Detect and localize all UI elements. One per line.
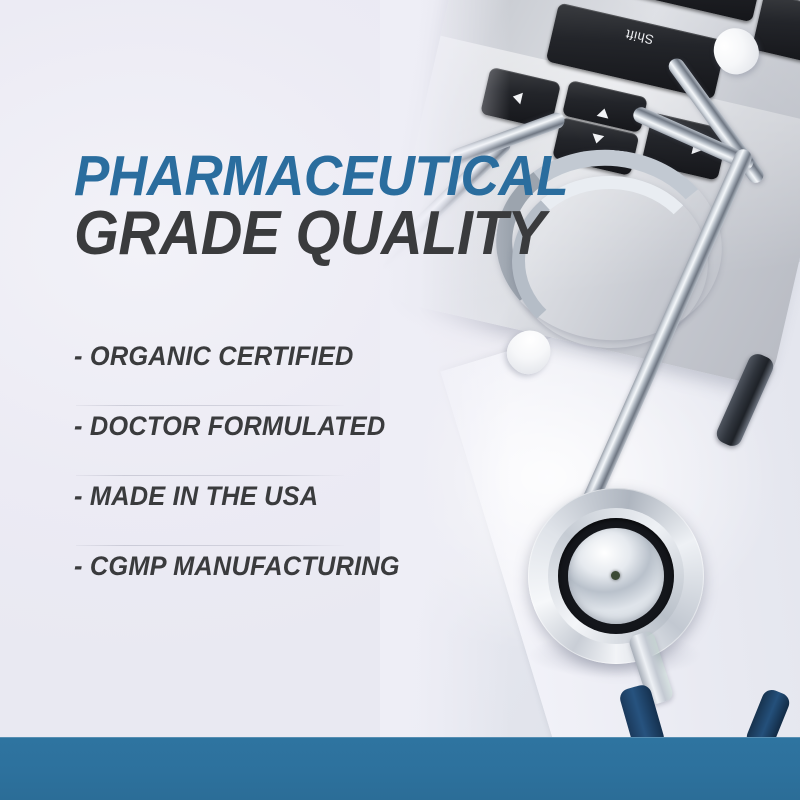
footer-bar xyxy=(0,737,800,800)
chestpiece-diaphragm xyxy=(568,528,664,624)
headline-line-1: PHARMACEUTICAL xyxy=(74,150,465,202)
feature-bullet: - xyxy=(74,341,83,371)
connector-sleeve xyxy=(714,351,777,449)
page-title: PHARMACEUTICAL GRADE QUALITY xyxy=(74,150,494,262)
diaphragm-center-hub xyxy=(611,571,620,580)
text-panel: PHARMACEUTICAL GRADE QUALITY - ORGANIC C… xyxy=(0,0,500,737)
feature-label: CGMP MANUFACTURING xyxy=(90,551,400,581)
list-item: - ORGANIC CERTIFIED xyxy=(74,336,404,406)
feature-label: DOCTOR FORMULATED xyxy=(90,411,386,441)
navy-tubing-right xyxy=(744,687,792,737)
feature-bullet: - xyxy=(74,411,83,441)
feature-list: - ORGANIC CERTIFIED - DOCTOR FORMULATED … xyxy=(74,336,404,616)
feature-text-made-in-the-usa: - MADE IN THE USA xyxy=(74,476,384,510)
list-item: - DOCTOR FORMULATED xyxy=(74,406,404,476)
feature-label: ORGANIC CERTIFIED xyxy=(90,341,354,371)
list-item: - MADE IN THE USA xyxy=(74,476,404,546)
feature-text-doctor-formulated: - DOCTOR FORMULATED xyxy=(74,406,384,440)
feature-bullet: - xyxy=(74,551,83,581)
feature-text-cgmp-manufacturing: - CGMP MANUFACTURING xyxy=(74,546,384,580)
chestpiece xyxy=(528,488,704,664)
feature-label: MADE IN THE USA xyxy=(90,481,318,511)
ear-tip-right xyxy=(706,20,766,81)
list-item: - CGMP MANUFACTURING xyxy=(74,546,404,616)
headline-line-2: GRADE QUALITY xyxy=(74,205,465,262)
feature-bullet: - xyxy=(74,481,83,511)
feature-text-organic-certified: - ORGANIC CERTIFIED xyxy=(74,336,384,370)
poster-canvas: Shift xyxy=(0,0,800,800)
footer-top-hairline xyxy=(0,737,800,738)
